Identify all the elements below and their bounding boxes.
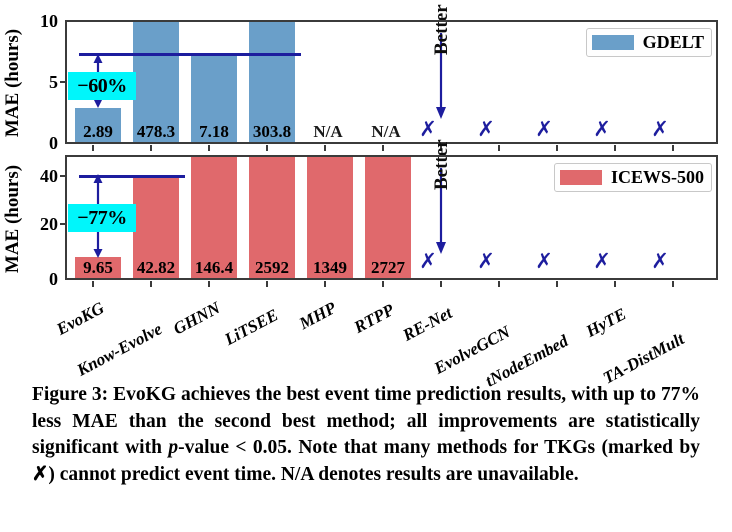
improvement-badge-icews: −77% (68, 204, 136, 232)
x-tick-mark-3 (266, 145, 268, 151)
y-tick-label-top-5: 5 (24, 72, 58, 93)
cross-marker-icews-evolvegcn: ✗ (476, 251, 496, 272)
legend-swatch-icews (560, 170, 602, 185)
x-tick-mark-bottom-4 (324, 281, 326, 287)
value-label-icews-mhp: 1349 (307, 258, 353, 277)
x-tick-mark-bottom-9 (614, 281, 616, 287)
x-tick-mark-8 (556, 145, 558, 151)
figure-3: MAE (hours) 10 5 0 −60% 2.89 478.3 7.18 … (0, 0, 732, 532)
y-axis-label-gdelt: MAE (hours) (2, 13, 24, 153)
value-label-gdelt-evokg: 2.89 (75, 122, 121, 141)
value-label-icews-evokg: 9.65 (75, 258, 121, 277)
chart-panel-icews: −77% 9.65 42.82 146.4 2592 1349 2727 ✗ ✗… (65, 155, 718, 280)
x-tick-mark-bottom-7 (498, 281, 500, 287)
legend-icews: ICEWS-500 (554, 163, 712, 192)
figure-caption: Figure 3: EvoKG achieves the best event … (32, 382, 700, 488)
x-tick-mark-bottom-2 (208, 281, 210, 287)
better-label-gdelt: Better (431, 4, 453, 55)
value-label-gdelt-mhp: N/A (305, 122, 351, 141)
y-tick-label-top-10: 10 (24, 11, 58, 32)
value-label-gdelt-litsee: 303.8 (247, 122, 297, 141)
legend-label-icews: ICEWS-500 (611, 167, 704, 188)
caption-italic-p: p (168, 437, 178, 458)
x-tick-mark-bottom-6 (440, 281, 442, 287)
x-tick-mark-2 (208, 145, 210, 151)
y-tick-label-bottom-20: 20 (24, 214, 58, 235)
value-label-gdelt-know-evolve: 478.3 (131, 122, 181, 141)
x-tick-mark-5 (382, 145, 384, 151)
x-tick-mark-bottom-3 (266, 281, 268, 287)
value-label-icews-litsee: 2592 (249, 258, 295, 277)
cross-marker-gdelt-ta-distmult: ✗ (650, 119, 670, 140)
cross-marker-icews-hyte: ✗ (592, 251, 612, 272)
y-tick-label-bottom-0: 0 (24, 269, 58, 290)
value-label-icews-ghnn: 146.4 (191, 258, 237, 277)
reference-line-gdelt (79, 53, 301, 56)
x-tick-mark-7 (498, 145, 500, 151)
x-tick-mark-bottom-8 (556, 281, 558, 287)
cross-marker-icews-re-net: ✗ (418, 251, 438, 272)
y-tick-label-bottom-40: 40 (24, 166, 58, 187)
legend-label-gdelt: GDELT (643, 32, 704, 53)
x-tick-mark-bottom-1 (150, 281, 152, 287)
value-label-icews-rtpp: 2727 (365, 258, 411, 277)
improvement-badge-gdelt: −60% (68, 72, 136, 100)
x-tick-mark-0 (92, 145, 94, 151)
x-tick-mark-bottom-5 (382, 281, 384, 287)
x-tick-mark-10 (672, 145, 674, 151)
x-tick-mark-9 (614, 145, 616, 151)
value-label-gdelt-rtpp: N/A (363, 122, 409, 141)
x-tick-mark-4 (324, 145, 326, 151)
cross-marker-gdelt-re-net: ✗ (418, 119, 438, 140)
legend-gdelt: GDELT (586, 28, 712, 57)
cross-marker-gdelt-hyte: ✗ (592, 119, 612, 140)
cross-marker-gdelt-evolvegcn: ✗ (476, 119, 496, 140)
y-axis-label-icews: MAE (hours) (2, 149, 24, 289)
cross-marker-icews-ta-distmult: ✗ (650, 251, 670, 272)
cross-marker-gdelt-tnodeembed: ✗ (534, 119, 554, 140)
better-label-icews: Better (431, 139, 453, 190)
y-tick-label-top-0: 0 (24, 133, 58, 154)
value-label-icews-know-evolve: 42.82 (131, 258, 181, 277)
chart-panel-gdelt: −60% 2.89 478.3 7.18 303.8 N/A N/A ✗ ✗ ✗… (65, 20, 718, 144)
x-tick-mark-bottom-10 (672, 281, 674, 287)
x-tick-mark-1 (150, 145, 152, 151)
x-tick-mark-bottom-0 (92, 281, 94, 287)
legend-swatch-gdelt (592, 35, 634, 50)
cross-marker-icews-tnodeembed: ✗ (534, 251, 554, 272)
value-label-gdelt-ghnn: 7.18 (191, 122, 237, 141)
